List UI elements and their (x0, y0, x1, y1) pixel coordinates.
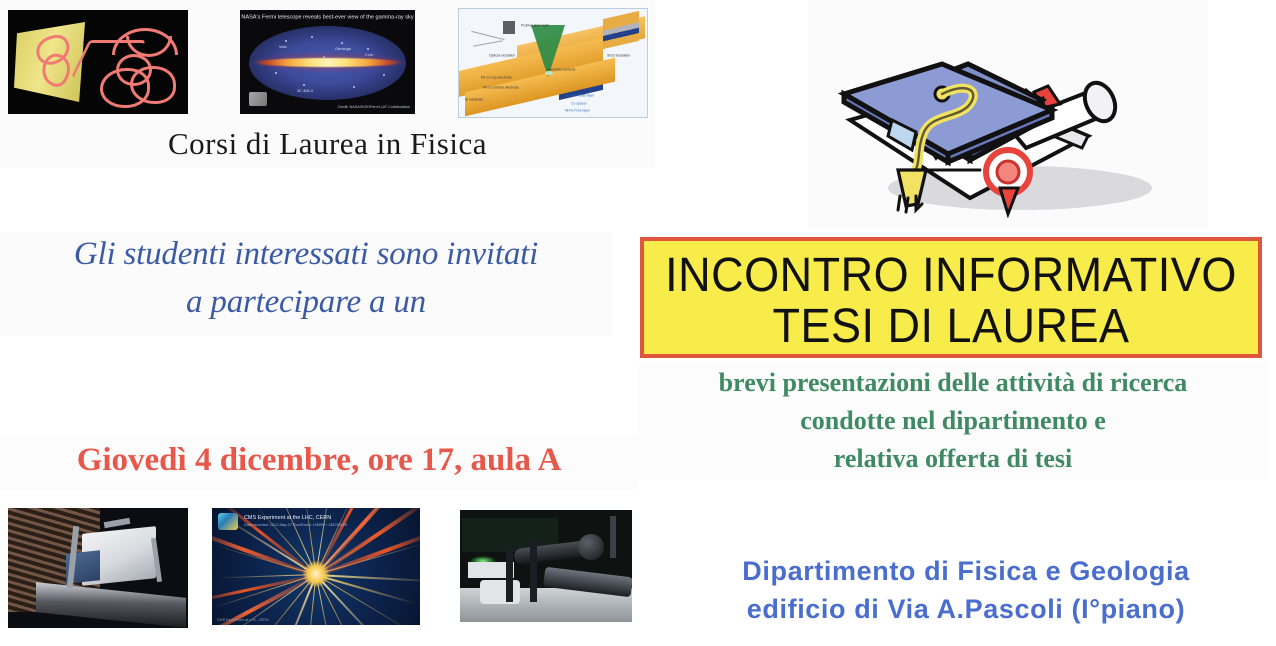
fermi-gamma-ray-sky-figure: NASA's Fermi telescope reveals best-ever… (240, 10, 415, 114)
nano-label-read-layer: Co-Fe Read layer (567, 93, 594, 98)
invitation-line-1: Gli studenti interessati sono invitati (0, 236, 612, 273)
collision-vertex-glow (303, 561, 329, 587)
description-line-2: condotte nel dipartimento e (638, 406, 1268, 436)
fermi-logo (249, 92, 267, 106)
graduation-cap-clipart (820, 28, 1196, 218)
polymer-membrane-figure (8, 10, 188, 114)
banner-line-1: INCONTRO INFORMATIVO (644, 247, 1258, 303)
course-header-panel: NASA's Fermi telescope reveals best-ever… (0, 0, 655, 168)
fermi-figure-caption: NASA's Fermi telescope reveals best-ever… (240, 14, 415, 20)
description-line-3: relativa offerta di tesi (638, 444, 1268, 474)
ams-space-instrument-photo (8, 508, 188, 628)
address-line-1: Dipartimento di Fisica e Geologia (660, 556, 1272, 587)
layer-stack-shape (603, 11, 639, 49)
nanostructure-schematic-figure: Probing laser light Optical excitation N… (458, 8, 648, 118)
address-line-2: edificio di Via A.Pascoli (I°piano) (660, 594, 1272, 625)
nano-label-substrate: Si substrate (465, 97, 483, 102)
nano-label-optical-excitation: Optical excitation (489, 53, 515, 58)
cms-logo-icon (218, 513, 238, 530)
cms-photo-header: CMS Experiment at the LHC, CERN Data rec… (218, 513, 414, 539)
fermi-figure-credit: Credit: NASA/DOE/Fermi LAT Collaboration (337, 104, 410, 109)
event-datetime-text: Giovedì 4 dicembre, ore 17, aula A (0, 442, 638, 479)
nano-label-top-electrode: Pd-Cu top electrode (481, 75, 512, 80)
graduation-clipart-panel (808, 0, 1208, 228)
invitation-line-2: a partecipare a un (0, 284, 612, 321)
cms-lhc-collision-photo: CMS Experiment at the LHC, CERN Data rec… (212, 508, 420, 625)
description-text-panel: brevi presentazioni delle attività di ri… (638, 362, 1268, 480)
banner-line-2: TESI DI LAUREA (644, 298, 1258, 354)
nano-label-spacer: Cu spacer (571, 101, 587, 106)
galactic-plane-band (254, 58, 402, 67)
invitation-text-panel: Gli studenti interessati sono invitati a… (0, 232, 612, 336)
page-title: Corsi di Laurea in Fisica (0, 126, 655, 162)
cms-photo-header-title: CMS Experiment at the LHC, CERN (244, 514, 331, 521)
optics-mount-knob-shape (578, 534, 604, 560)
nano-label-nanowire-contacts: Nanowire contacts (547, 67, 575, 72)
nano-label-insulation: SiO2 insulation (607, 53, 630, 58)
truss-structure-shape (36, 582, 186, 628)
description-line-1: brevi presentazioni delle attività di ri… (638, 368, 1268, 398)
cms-photo-header-subtitle: Data recorded: 2012-May-27 Run/Event: 19… (244, 522, 347, 527)
nano-label-free-layer: Ni-Fe Free layer (565, 108, 590, 113)
detector-block-shape (503, 21, 515, 34)
cms-photo-footer: CMS Experiment at LHC, CERN (217, 617, 269, 622)
event-datetime-panel: Giovedì 4 dicembre, ore 17, aula A (0, 436, 638, 490)
nano-label-bottom-electrode: Mt-Cu bottom electrode (483, 85, 519, 90)
poster-root: NASA's Fermi telescope reveals best-ever… (0, 0, 1276, 646)
laser-optics-lab-photo (460, 510, 632, 622)
event-title-banner: INCONTRO INFORMATIVO TESI DI LAUREA (640, 237, 1262, 358)
address-panel: Dipartimento di Fisica e Geologia edific… (660, 552, 1272, 640)
polymer-coil-shape (130, 66, 176, 104)
nano-label-probing-laser: Probing laser light (521, 23, 549, 28)
